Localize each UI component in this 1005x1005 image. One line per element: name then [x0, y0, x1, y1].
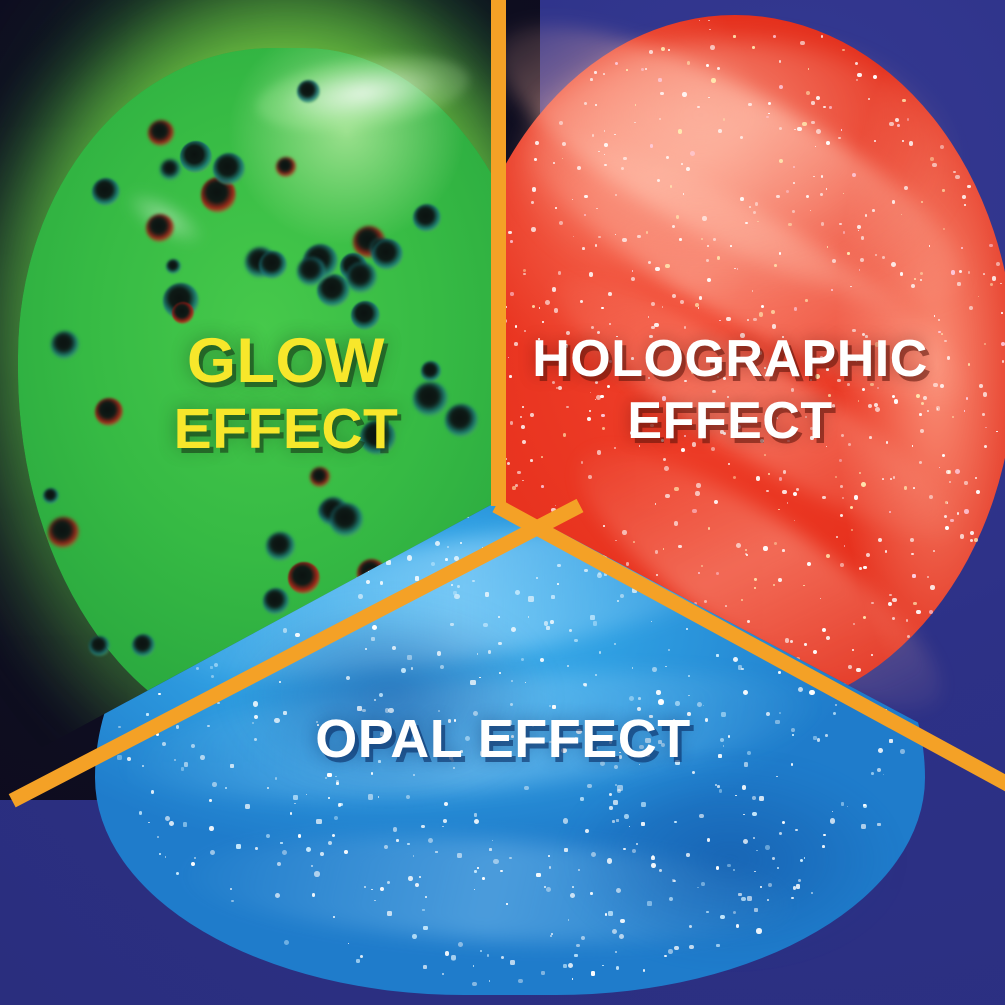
shimmer-speck [608, 911, 613, 916]
glitter-speck [840, 485, 843, 488]
glitter-speck [821, 175, 823, 177]
glitter-speck [558, 271, 561, 274]
shimmer-speck [306, 794, 307, 795]
glitter-speck [687, 61, 690, 64]
shimmer-speck [832, 811, 833, 812]
shimmer-speck [365, 648, 367, 650]
glitter-speck [838, 137, 841, 140]
shimmer-speck [716, 654, 719, 657]
glitter-speck [964, 481, 967, 484]
shimmer-speck [822, 845, 825, 848]
shimmer-speck [275, 777, 277, 779]
shimmer-speck [675, 701, 679, 705]
shimmer-speck [563, 964, 567, 968]
shimmer-speck [327, 773, 331, 777]
shimmer-speck [280, 842, 282, 844]
shimmer-speck [183, 822, 187, 826]
shimmer-speck [641, 802, 646, 807]
shimmer-speck [290, 812, 293, 815]
glitter-speck [955, 175, 959, 179]
opal-effect-label: OPAL EFFECT [230, 712, 776, 766]
shimmer-speck [117, 755, 122, 760]
shimmer-speck [368, 794, 373, 799]
shimmer-speck [474, 870, 476, 872]
glitter-speck [768, 473, 770, 475]
glitter-speck [749, 206, 751, 208]
shimmer-speck [435, 851, 437, 853]
shimmer-speck [735, 795, 736, 796]
glitter-speck [592, 134, 594, 136]
glow-bead [288, 562, 319, 593]
glitter-speck [983, 273, 985, 275]
shimmer-speck [225, 787, 227, 789]
glitter-speck [882, 478, 884, 480]
shimmer-speck [314, 871, 319, 876]
glitter-speck [950, 519, 954, 523]
glitter-speck [754, 587, 756, 589]
glitter-speck [826, 188, 827, 189]
glitter-speck [523, 269, 526, 272]
glow-bead [48, 517, 79, 548]
shimmer-speck [477, 653, 478, 654]
glitter-speck [970, 531, 974, 535]
shimmer-speck [371, 637, 375, 641]
glow-bead [89, 636, 109, 656]
glitter-speck [779, 159, 783, 163]
shimmer-speck [511, 627, 516, 632]
glitter-speck [584, 214, 586, 216]
shimmer-speck [584, 569, 587, 572]
glitter-speck [635, 104, 636, 105]
glitter-speck [822, 496, 825, 499]
glitter-speck [718, 129, 722, 133]
glitter-speck [603, 525, 605, 527]
shimmer-speck [380, 887, 384, 891]
glitter-speck [734, 268, 735, 269]
shimmer-speck [510, 960, 515, 965]
glitter-speck [545, 300, 550, 305]
glitter-speck [726, 317, 731, 322]
glitter-speck [779, 127, 782, 130]
shimmer-speck [889, 739, 892, 742]
shimmer-speck [212, 782, 217, 787]
glitter-speck [897, 124, 900, 127]
shimmer-speck [701, 882, 705, 886]
shimmer-speck [599, 651, 601, 653]
glow-bead [146, 214, 174, 242]
shimmer-speck [253, 701, 258, 706]
glitter-speck [793, 182, 795, 184]
glitter-speck [957, 282, 960, 285]
glitter-speck [510, 292, 513, 295]
shimmer-speck [754, 908, 757, 911]
glitter-speck [959, 270, 962, 273]
glitter-speck [938, 319, 940, 321]
glitter-speck [962, 195, 966, 199]
glitter-speck [1001, 312, 1003, 314]
glitter-speck [788, 223, 791, 226]
shimmer-speck [499, 672, 501, 674]
glitter-speck [773, 35, 776, 38]
shimmer-speck [612, 820, 615, 823]
glitter-speck [745, 549, 747, 551]
glitter-speck [755, 202, 758, 205]
glitter-speck [683, 193, 684, 194]
shimmer-speck [423, 926, 427, 930]
shimmer-speck [236, 844, 241, 849]
shimmer-speck [457, 585, 460, 588]
shimmer-speck [413, 774, 415, 776]
shimmer-speck [551, 933, 553, 935]
red-slime-gloss [520, 40, 950, 290]
glow-bead [297, 80, 320, 103]
glow-bead [259, 251, 287, 279]
shimmer-speck [488, 650, 491, 653]
glitter-speck [641, 68, 644, 71]
glitter-speck [811, 101, 814, 104]
shimmer-speck [613, 800, 618, 805]
glitter-speck [656, 574, 657, 575]
shimmer-speck [482, 877, 485, 880]
glitter-speck [664, 466, 669, 471]
glitter-speck [805, 299, 808, 302]
shimmer-speck [720, 915, 724, 919]
glitter-speck [989, 244, 993, 248]
glitter-speck [708, 97, 709, 98]
opal-label-line1: OPAL EFFECT [315, 709, 691, 769]
glitter-speck [717, 67, 720, 70]
shimmer-speck [275, 893, 280, 898]
glitter-speck [601, 307, 603, 309]
shimmer-speck [450, 623, 454, 627]
glitter-speck [900, 272, 904, 276]
shimmer-speck [570, 893, 575, 898]
glitter-speck [730, 245, 732, 247]
glitter-speck [670, 185, 672, 187]
shimmer-speck [451, 955, 456, 960]
shimmer-speck [743, 839, 748, 844]
glitter-speck [964, 509, 969, 514]
shimmer-speck [407, 555, 412, 560]
holographic-label-line2: EFFECT [512, 395, 948, 447]
glitter-speck [847, 252, 849, 254]
glitter-speck [934, 315, 935, 316]
shimmer-speck [431, 562, 435, 566]
glitter-speck [766, 490, 769, 493]
glitter-speck [974, 538, 978, 542]
glow-bead [132, 634, 155, 657]
glow-bead [276, 157, 296, 177]
glow-label-line1: GLOW [187, 326, 385, 396]
shimmer-speck [277, 862, 281, 866]
shimmer-speck [792, 734, 794, 736]
shimmer-speck [485, 592, 489, 596]
shimmer-speck [176, 725, 179, 728]
shimmer-speck [798, 879, 801, 882]
shimmer-speck [209, 826, 214, 831]
glitter-speck [510, 240, 513, 243]
glitter-speck [523, 273, 526, 276]
shimmer-speck [638, 697, 641, 700]
shimmer-speck [598, 572, 601, 575]
glitter-speck [733, 35, 735, 37]
glitter-speck [719, 320, 720, 321]
shimmer-speck [641, 822, 645, 826]
glitter-speck [930, 157, 934, 161]
divider-vertical [491, 0, 506, 506]
shimmer-speck [451, 584, 453, 586]
shimmer-speck [716, 866, 719, 869]
glitter-speck [723, 118, 726, 121]
glitter-speck [874, 140, 876, 142]
shimmer-speck [316, 819, 321, 824]
glitter-speck [964, 204, 966, 206]
shimmer-speck [624, 814, 628, 818]
glitter-speck [859, 567, 862, 570]
glitter-speck [808, 68, 809, 69]
shimmer-speck [435, 541, 440, 546]
glitter-speck [829, 106, 831, 108]
glitter-speck [555, 207, 557, 209]
shimmer-speck [293, 795, 297, 799]
glitter-speck [740, 197, 744, 201]
shimmer-speck [210, 666, 213, 669]
shimmer-speck [686, 853, 689, 856]
glitter-speck [555, 505, 556, 506]
shimmer-speck [445, 951, 450, 956]
glitter-speck [696, 483, 700, 487]
glitter-speck [804, 643, 806, 645]
glitter-speck [960, 534, 965, 539]
shimmer-speck [423, 965, 427, 969]
shimmer-speck [823, 834, 825, 836]
glitter-speck [807, 562, 811, 566]
glitter-speck [779, 60, 781, 62]
glitter-speck [609, 323, 611, 325]
glitter-speck [622, 530, 627, 535]
glow-bead [413, 204, 441, 232]
glitter-speck [590, 78, 593, 81]
shimmer-speck [580, 797, 583, 800]
shimmer-speck [795, 829, 797, 831]
glitter-speck [794, 307, 798, 311]
shimmer-speck [742, 785, 747, 790]
shimmer-speck [210, 850, 215, 855]
glitter-speck [826, 554, 830, 558]
shimmer-speck [437, 651, 441, 655]
shimmer-speck [209, 799, 212, 802]
glitter-speck [507, 462, 510, 465]
glitter-speck [682, 92, 686, 96]
holographic-effect-label: HOLOGRAPHIC EFFECT [512, 333, 948, 447]
glitter-speck [890, 478, 892, 480]
product-effects-collage: GLOW EFFECT HOLOGRAPHIC EFFECT OPAL EFFE… [0, 0, 1005, 1005]
glitter-speck [745, 222, 747, 224]
shimmer-speck [231, 900, 234, 903]
glitter-speck [679, 238, 682, 241]
shimmer-speck [796, 884, 800, 888]
shimmer-speck [338, 803, 341, 806]
shimmer-speck [408, 876, 412, 880]
glitter-speck [508, 231, 512, 235]
shimmer-speck [616, 966, 620, 970]
shimmer-speck [453, 591, 458, 596]
glitter-speck [608, 292, 612, 296]
glitter-speck [633, 541, 635, 543]
glitter-speck [823, 106, 825, 108]
glitter-speck [878, 538, 882, 542]
shimmer-speck [443, 819, 447, 823]
shimmer-speck [593, 621, 598, 626]
glitter-speck [875, 254, 877, 256]
glitter-speck [774, 542, 777, 545]
shimmer-speck [372, 625, 377, 630]
glitter-speck [534, 158, 537, 161]
glitter-speck [531, 227, 536, 232]
glitter-speck [996, 262, 1000, 266]
glitter-speck [686, 167, 690, 171]
glitter-speck [885, 550, 887, 552]
shimmer-speck [572, 886, 573, 887]
shimmer-speck [474, 819, 479, 824]
glitter-speck [658, 78, 661, 81]
shimmer-speck [159, 853, 161, 855]
glow-bead [148, 120, 174, 146]
shimmer-speck [401, 668, 406, 673]
shimmer-speck [371, 772, 374, 775]
glitter-speck [512, 486, 516, 490]
shimmer-speck [546, 626, 550, 630]
shimmer-speck [689, 945, 693, 949]
glitter-speck [541, 485, 544, 488]
shimmer-speck [778, 671, 781, 674]
shimmer-speck [609, 793, 612, 796]
glitter-speck [594, 71, 596, 73]
shimmer-speck [360, 955, 363, 958]
shimmer-speck [791, 728, 795, 732]
glitter-speck [820, 193, 823, 196]
glitter-speck [913, 487, 915, 489]
shimmer-speck [765, 845, 769, 849]
glow-bead [330, 503, 363, 536]
glow-bead [213, 153, 245, 185]
shimmer-speck [320, 852, 324, 856]
glitter-speck [541, 456, 543, 458]
glitter-speck [684, 326, 686, 328]
glitter-speck [811, 121, 814, 124]
glitter-speck [871, 602, 873, 604]
glitter-speck [802, 122, 806, 126]
glitter-speck [782, 490, 787, 495]
glitter-speck [706, 64, 709, 67]
glitter-speck [916, 610, 920, 614]
glow-bead [266, 532, 294, 560]
glitter-speck [631, 277, 635, 281]
glitter-speck [554, 308, 559, 313]
shimmer-speck [817, 738, 821, 742]
glitter-speck [757, 221, 758, 222]
shimmer-speck [557, 583, 559, 585]
glitter-speck [562, 142, 566, 146]
shimmer-speck [158, 693, 160, 695]
shimmer-speck [295, 633, 300, 638]
glitter-speck [979, 384, 983, 388]
shimmer-speck [619, 934, 624, 939]
glitter-speck [524, 330, 526, 332]
glitter-speck [678, 129, 682, 133]
shimmer-speck [733, 869, 734, 870]
shimmer-speck [878, 748, 883, 753]
shimmer-speck [760, 886, 762, 888]
shimmer-speck [358, 594, 363, 599]
glitter-speck [702, 216, 706, 220]
shimmer-speck [413, 855, 414, 856]
glitter-speck [943, 228, 945, 230]
shimmer-speck [524, 786, 529, 791]
shimmer-speck [825, 734, 828, 737]
shimmer-speck [616, 819, 618, 821]
shimmer-speck [643, 969, 646, 972]
shimmer-speck [142, 765, 144, 767]
shimmer-speck [479, 677, 480, 678]
shimmer-speck [753, 837, 755, 839]
shimmer-speck [139, 811, 143, 815]
glitter-speck [859, 472, 861, 474]
glow-label-line2: EFFECT [96, 401, 476, 458]
shimmer-speck [617, 600, 619, 602]
glitter-speck [660, 92, 664, 96]
shimmer-speck [458, 942, 463, 947]
shimmer-speck [568, 919, 570, 921]
shimmer-speck [528, 616, 529, 617]
glitter-speck [933, 550, 935, 552]
glitter-speck [681, 163, 683, 165]
shimmer-speck [590, 892, 592, 894]
glitter-speck [929, 610, 933, 614]
glitter-speck [944, 515, 947, 518]
glitter-speck [779, 477, 783, 481]
glitter-speck [763, 546, 767, 550]
glow-bead [310, 467, 330, 487]
glitter-speck [756, 476, 761, 481]
shimmer-speck [127, 757, 131, 761]
glitter-speck [737, 268, 738, 269]
glitter-speck [581, 461, 583, 463]
glitter-speck [975, 477, 977, 479]
glitter-speck [852, 649, 854, 651]
glitter-speck [785, 638, 789, 642]
shimmer-speck [877, 823, 880, 826]
shimmer-speck [407, 843, 410, 846]
glitter-speck [597, 450, 601, 454]
glitter-speck [674, 487, 678, 491]
glitter-speck [596, 208, 597, 209]
glitter-speck [754, 578, 756, 580]
glitter-speck [672, 294, 676, 298]
shimmer-speck [609, 806, 612, 809]
glitter-speck [996, 431, 997, 432]
glitter-speck [907, 118, 909, 120]
glow-bead [180, 141, 212, 173]
glitter-speck [806, 195, 809, 198]
shimmer-speck [647, 901, 652, 906]
shimmer-speck [146, 713, 149, 716]
shimmer-speck [590, 615, 595, 620]
shimmer-speck [255, 847, 258, 850]
glitter-speck [967, 185, 970, 188]
shimmer-speck [813, 736, 817, 740]
shimmer-speck [585, 829, 589, 833]
